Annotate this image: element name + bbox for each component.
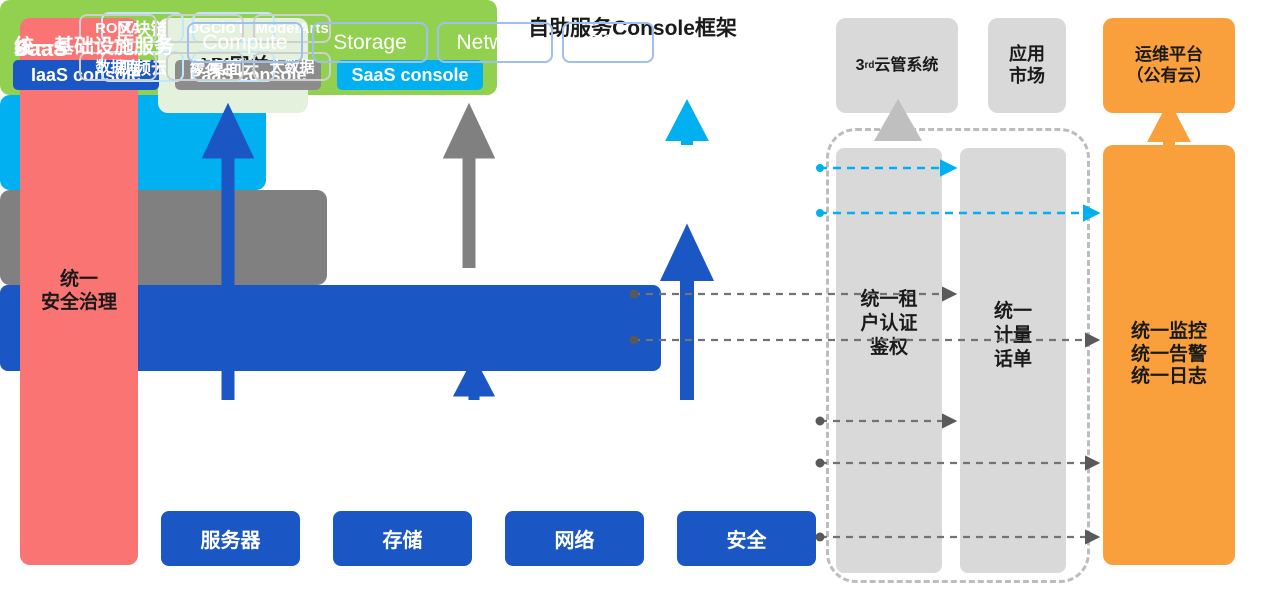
infra-chip-storage[interactable]: Storage bbox=[312, 22, 428, 63]
third-party-cloud-management-block: 3rd云管系统 bbox=[836, 18, 958, 113]
ops-platform-public-cloud-block: 运维平台 （公有云） bbox=[1103, 18, 1235, 113]
arrow-saas-to-saas-console bbox=[675, 112, 699, 145]
third-party-label-sup: rd bbox=[864, 60, 874, 72]
hardware-box-storage[interactable]: 存储 bbox=[333, 511, 472, 566]
infra-chip-network[interactable]: Network bbox=[437, 22, 553, 63]
unified-tenant-auth-column: 统一租 户认证 鉴权 bbox=[836, 148, 942, 573]
arrow-infra-to-paas bbox=[462, 368, 486, 400]
connector-dot-infra-upper bbox=[816, 417, 825, 426]
unified-tenant-auth-label: 统一租 户认证 鉴权 bbox=[836, 288, 942, 359]
unified-security-governance-block: 统一 安全治理 bbox=[20, 18, 138, 565]
architecture-diagram: 统一 安全治理 API网关 自助服务Console框架 IaaS console… bbox=[0, 0, 1265, 605]
unified-metering-billing-column: 统一 计量 话单 bbox=[960, 148, 1066, 573]
app-market-block: 应用 市场 bbox=[988, 18, 1066, 113]
third-party-label-suffix: 云管系统 bbox=[874, 56, 938, 75]
connector-dot-hardware bbox=[816, 533, 825, 542]
connector-dot-infra-lower bbox=[816, 459, 825, 468]
arrow-ops-col-to-ops-top bbox=[1157, 113, 1181, 145]
hardware-box-network[interactable]: 网络 bbox=[505, 511, 644, 566]
unified-metering-billing-label: 统一 计量 话单 bbox=[960, 300, 1066, 371]
arrow-paas-to-console bbox=[453, 118, 485, 268]
unified-monitoring-alarm-log-block: 统一监控 统一告警 统一日志 bbox=[1103, 145, 1235, 565]
unified-infrastructure-label: 统一基础设施服务 bbox=[14, 30, 174, 59]
infra-chip-cce[interactable]: CCE bbox=[562, 22, 654, 63]
connector-dot-saas-lower bbox=[816, 209, 824, 217]
saas-console-chip[interactable]: SaaS console bbox=[337, 60, 483, 90]
arrow-infra-to-saas bbox=[671, 240, 703, 400]
hardware-box-security[interactable]: 安全 bbox=[677, 511, 816, 566]
connector-dot-saas-upper bbox=[816, 164, 824, 172]
hardware-box-server[interactable]: 服务器 bbox=[161, 511, 300, 566]
third-party-label-prefix: 3 bbox=[856, 56, 865, 75]
infra-chip-compute[interactable]: Compute bbox=[187, 22, 303, 63]
